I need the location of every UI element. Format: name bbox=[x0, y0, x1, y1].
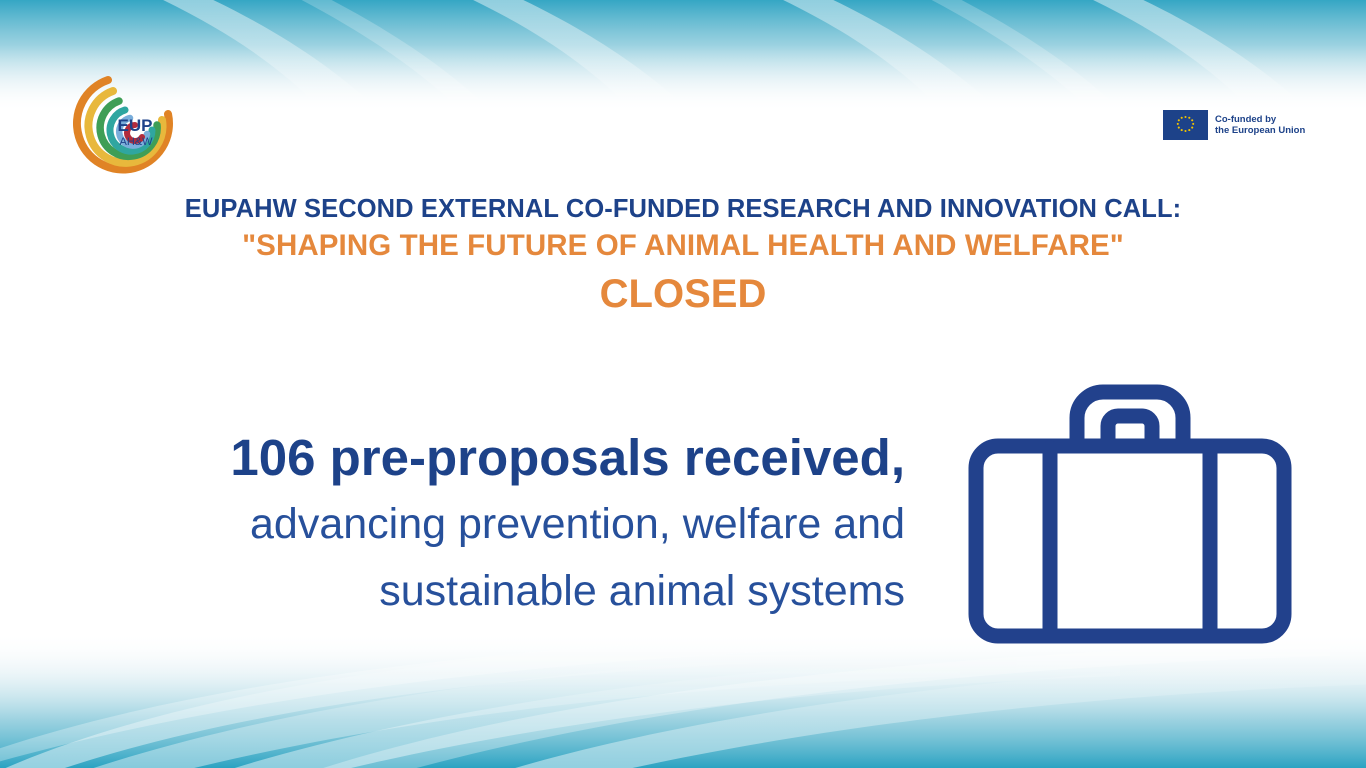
eu-cofunded-emblem: Co-funded by the European Union bbox=[1163, 106, 1303, 144]
suitcase-icon bbox=[965, 378, 1295, 650]
eup-ahw-logo: EUP AH&W bbox=[72, 74, 184, 174]
eu-emblem-line-2: the European Union bbox=[1215, 125, 1305, 137]
call-subtitle-line: "SHAPING THE FUTURE OF ANIMAL HEALTH AND… bbox=[0, 226, 1366, 266]
call-title-line: EUPAHW SECOND EXTERNAL CO-FUNDED RESEARC… bbox=[0, 192, 1366, 226]
eu-emblem-line-1: Co-funded by bbox=[1215, 114, 1305, 126]
proposals-received-headline: 106 pre-proposals received, bbox=[60, 425, 905, 491]
eu-emblem-text: Co-funded by the European Union bbox=[1215, 114, 1305, 137]
title-block: EUPAHW SECOND EXTERNAL CO-FUNDED RESEARC… bbox=[0, 192, 1366, 320]
call-status-line: CLOSED bbox=[0, 268, 1366, 320]
statement-line-2: sustainable animal systems bbox=[60, 558, 905, 625]
logo-text-eup: EUP bbox=[118, 116, 153, 135]
logo-text-ahw: AH&W bbox=[120, 136, 154, 148]
statement-block: 106 pre-proposals received, advancing pr… bbox=[60, 425, 905, 625]
european-union-flag-icon bbox=[1163, 110, 1208, 140]
statement-line-1: advancing prevention, welfare and bbox=[60, 491, 905, 558]
slide-canvas: EUP AH&W Co-funded by the Euro bbox=[0, 0, 1366, 768]
